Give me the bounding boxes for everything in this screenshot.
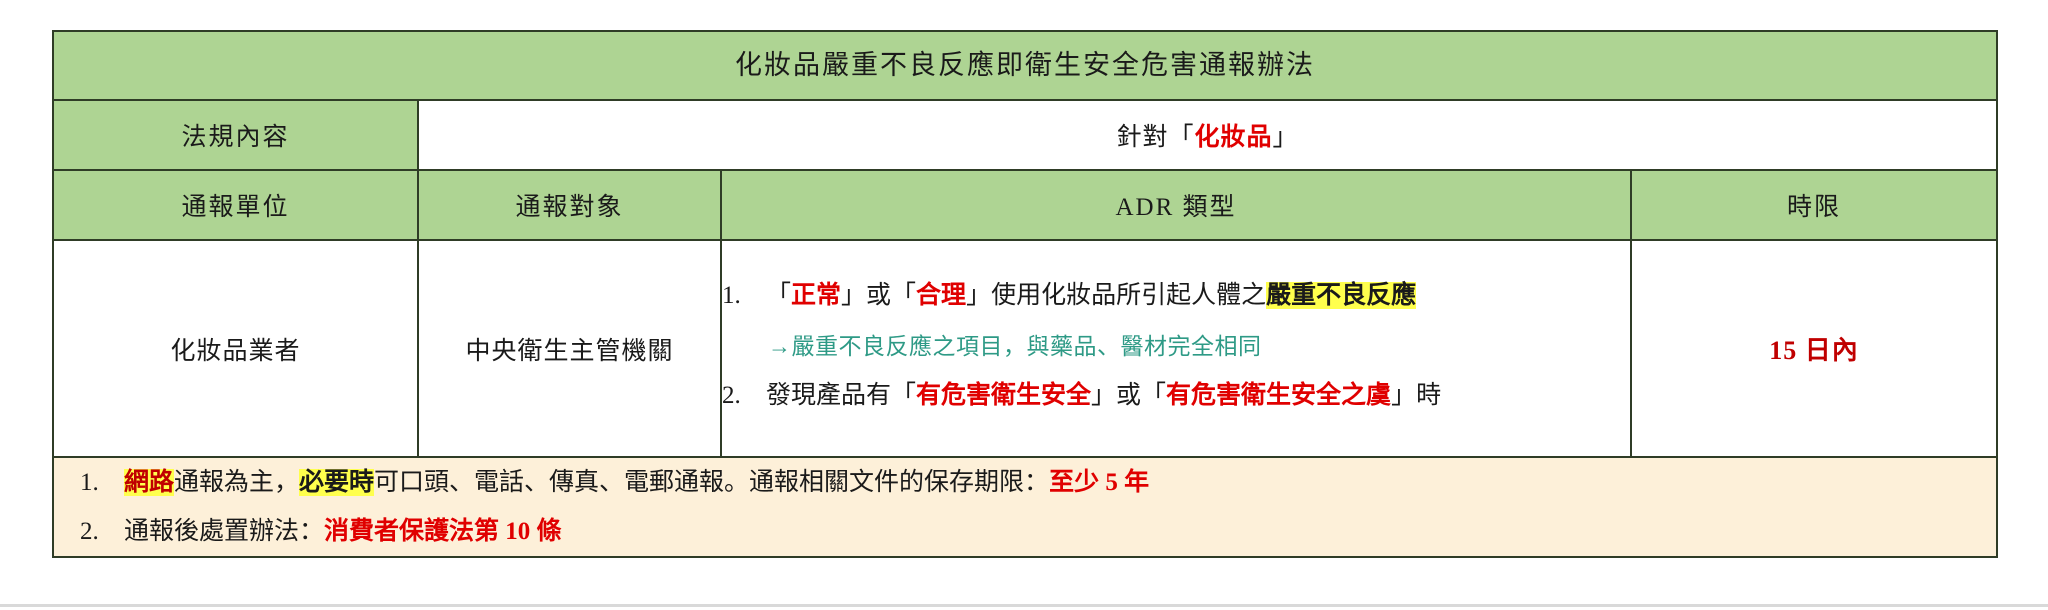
adr-note: →嚴重不良反應之項目，與藥品、醫材完全相同 xyxy=(768,327,1630,361)
regulation-label: 法規內容 xyxy=(53,100,418,170)
footnote1-seg-b: 通報為主， xyxy=(174,469,299,496)
adr1-seg-e: 」使用化妝品所引起人體之 xyxy=(966,282,1266,309)
regulation-target-term: 化妝品 xyxy=(1194,124,1272,151)
footnote-1-number: 1. xyxy=(80,465,124,500)
footnote2-seg-a: 通報後處置辦法： xyxy=(124,518,324,545)
cell-reporting-unit: 化妝品業者 xyxy=(53,240,418,457)
footnotes-row: 1. 網路通報為主，必要時可口頭、電話、傳真、電郵通報。通報相關文件的保存期限：… xyxy=(53,457,1997,557)
regulation-suffix: 」 xyxy=(1273,124,1299,151)
adr1-term-serious-reaction: 嚴重不良反應 xyxy=(1266,282,1416,309)
regulation-table: 化妝品嚴重不良反應即衛生安全危害通報辦法 法規內容 針對「化妝品」 通報單位 通… xyxy=(52,30,1998,558)
adr-item-1-text: 「正常」或「合理」使用化妝品所引起人體之嚴重不良反應 xyxy=(766,279,1630,313)
cell-adr-type: 1. 「正常」或「合理」使用化妝品所引起人體之嚴重不良反應 →嚴重不良反應之項目… xyxy=(721,240,1631,457)
adr-item-1-number: 1. xyxy=(722,279,766,313)
table-row: 化妝品業者 中央衛生主管機關 1. 「正常」或「合理」使用化妝品所引起人體之嚴重… xyxy=(53,240,1997,457)
regulation-row: 法規內容 針對「化妝品」 xyxy=(53,100,1997,170)
adr2-seg-c: 」或「 xyxy=(1091,382,1166,409)
adr-item-2: 2. 發現產品有「有危害衛生安全」或「有危害衛生安全之虞」時 xyxy=(722,379,1630,413)
cell-deadline: 15 日內 xyxy=(1631,240,1997,457)
column-header-row: 通報單位 通報對象 ADR 類型 時限 xyxy=(53,170,1997,240)
adr2-term-hazard-risk: 有危害衛生安全之虞 xyxy=(1166,382,1391,409)
regulation-target: 針對「化妝品」 xyxy=(418,100,1997,170)
footnote2-term-law: 消費者保護法第 10 條 xyxy=(324,518,562,545)
header-deadline: 時限 xyxy=(1631,170,1997,240)
adr1-term-normal: 正常 xyxy=(791,282,841,309)
adr1-term-reasonable: 合理 xyxy=(916,282,966,309)
header-adr-type: ADR 類型 xyxy=(721,170,1631,240)
adr1-seg-c: 」或「 xyxy=(841,282,916,309)
adr1-seg-a: 「 xyxy=(766,282,791,309)
adr2-seg-e: 」時 xyxy=(1391,382,1441,409)
table-title-row: 化妝品嚴重不良反應即衛生安全危害通報辦法 xyxy=(53,31,1997,100)
adr-item-2-text: 發現產品有「有危害衛生安全」或「有危害衛生安全之虞」時 xyxy=(766,379,1630,413)
footnote-1-text: 網路通報為主，必要時可口頭、電話、傳真、電郵通報。通報相關文件的保存期限：至少 … xyxy=(124,465,1996,500)
footnote-2-text: 通報後處置辦法：消費者保護法第 10 條 xyxy=(124,514,1996,549)
page-title: 化妝品嚴重不良反應即衛生安全危害通報辦法 xyxy=(53,31,1997,100)
regulation-prefix: 針對「 xyxy=(1116,124,1194,151)
footnote-1: 1. 網路通報為主，必要時可口頭、電話、傳真、電郵通報。通報相關文件的保存期限：… xyxy=(54,458,1996,507)
regulation-sheet: 化妝品嚴重不良反應即衛生安全危害通報辦法 法規內容 針對「化妝品」 通報單位 通… xyxy=(0,0,2048,610)
footnotes-cell: 1. 網路通報為主，必要時可口頭、電話、傳真、電郵通報。通報相關文件的保存期限：… xyxy=(53,457,1997,557)
bottom-divider xyxy=(0,604,2048,607)
footnote-list: 1. 網路通報為主，必要時可口頭、電話、傳真、電郵通報。通報相關文件的保存期限：… xyxy=(54,458,1996,556)
footnote-2-number: 2. xyxy=(80,514,124,549)
adr2-seg-a: 發現產品有「 xyxy=(766,382,916,409)
adr-item-1: 1. 「正常」或「合理」使用化妝品所引起人體之嚴重不良反應 xyxy=(722,279,1630,313)
adr-item-2-number: 2. xyxy=(722,379,766,413)
adr-list: 1. 「正常」或「合理」使用化妝品所引起人體之嚴重不良反應 →嚴重不良反應之項目… xyxy=(722,279,1630,413)
cell-reporting-object: 中央衛生主管機關 xyxy=(418,240,721,457)
footnote1-term-when-necessary: 必要時 xyxy=(299,469,374,496)
footnote-2: 2. 通報後處置辦法：消費者保護法第 10 條 xyxy=(54,507,1996,556)
footnote1-term-retention: 至少 5 年 xyxy=(1049,469,1149,496)
footnote1-term-internet: 網路 xyxy=(124,469,174,496)
footnote1-seg-d: 可口頭、電話、傳真、電郵通報。通報相關文件的保存期限： xyxy=(374,469,1049,496)
header-reporting-unit: 通報單位 xyxy=(53,170,418,240)
adr2-term-hazard: 有危害衛生安全 xyxy=(916,382,1091,409)
header-reporting-object: 通報對象 xyxy=(418,170,721,240)
